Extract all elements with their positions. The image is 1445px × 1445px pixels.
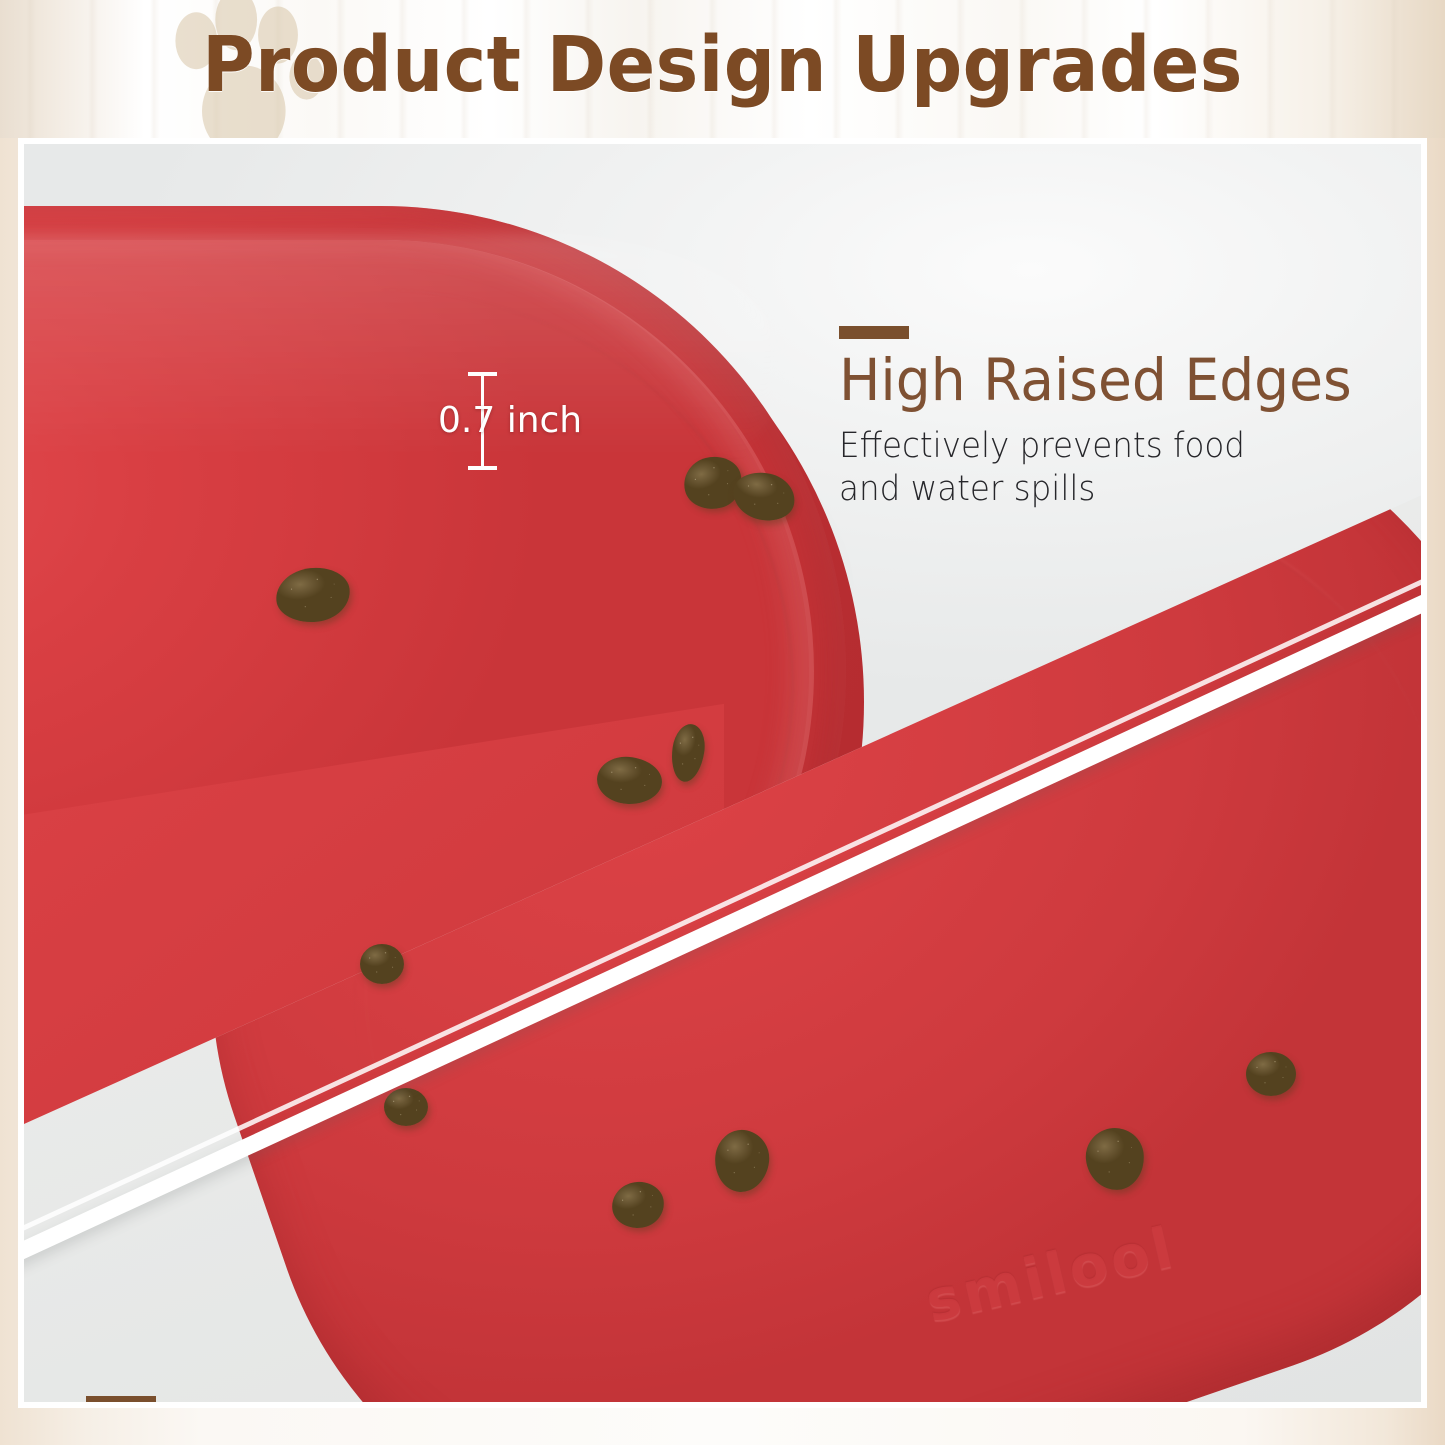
product-photo-frame: smilool 0.7 inch High Raised Edges Effec… [18, 138, 1427, 1408]
kibble-piece [1246, 1052, 1296, 1096]
dimension-cap-top-icon [468, 372, 497, 376]
dimension-cap-bottom-icon [468, 466, 497, 470]
feature-subtext-line: Effectively prevents food [839, 425, 1341, 468]
feature-high-raised-edges: High Raised Edges Effectively prevents f… [839, 326, 1379, 511]
infographic-page: Product Design Upgrades smilool [0, 0, 1445, 1445]
feature-keeping-floor-clean: Keeping the floor clean Minimizes time s… [86, 1396, 956, 1402]
feature-subtext: Effectively prevents food and water spil… [839, 425, 1341, 510]
accent-dash-icon [86, 1396, 156, 1402]
dimension-label: 0.7 inch [438, 400, 582, 441]
product-photo: smilool 0.7 inch High Raised Edges Effec… [24, 144, 1421, 1402]
kibble-piece [360, 944, 404, 984]
feature-headline: High Raised Edges [839, 350, 1352, 411]
dimension-callout: 0.7 inch [456, 366, 636, 478]
feature-subtext-line: and water spills [839, 468, 1341, 511]
accent-dash-icon [839, 326, 909, 339]
kibble-piece [384, 1088, 428, 1126]
header-banner: Product Design Upgrades [0, 0, 1445, 138]
page-title: Product Design Upgrades [51, 0, 1395, 130]
bowl-gloss-highlight [24, 234, 784, 534]
